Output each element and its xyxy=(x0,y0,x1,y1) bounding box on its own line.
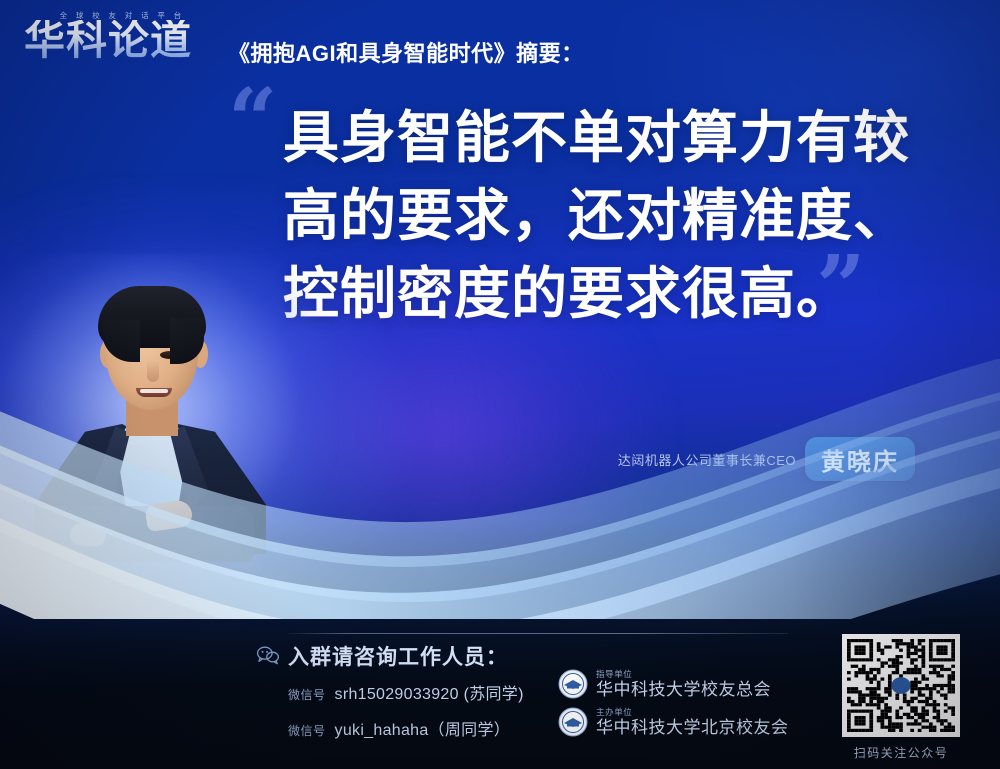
wechat-bubbles-icon xyxy=(256,645,280,665)
contact-label: 微信号 xyxy=(288,722,326,739)
qr-code[interactable] xyxy=(842,634,960,737)
organization-text: 主办单位 华中科技大学北京校友会 xyxy=(596,708,789,737)
speaker-portrait xyxy=(18,288,280,553)
organization-kind: 指导单位 xyxy=(596,670,771,679)
quote-line: 高的要求，还对精准度、 xyxy=(283,178,973,256)
footer-divider xyxy=(288,633,788,634)
qr-code-pattern xyxy=(847,639,955,732)
organization-name: 华中科技大学北京校友会 xyxy=(596,719,789,736)
organization-row: 主办单位 华中科技大学北京校友会 xyxy=(558,707,789,737)
speaker-name-badge: 黄晓庆 xyxy=(805,437,915,481)
organization-row: 指导单位 华中科技大学校友总会 xyxy=(558,669,771,699)
contact-id[interactable]: yuki_hahaha（周同学） xyxy=(335,716,511,740)
contact-row: 微信号 yuki_hahaha（周同学） xyxy=(288,716,510,740)
university-emblem-icon xyxy=(558,707,588,737)
organization-kind: 主办单位 xyxy=(596,708,789,717)
portrait-mouth xyxy=(136,388,172,397)
quote-text-block: 具身智能不单对算力有较 高的要求，还对精准度、 控制密度的要求很高。 xyxy=(283,100,973,334)
contact-label: 微信号 xyxy=(288,686,326,703)
poster-canvas: 全 球 校 友 对 话 平 台 华科论道 《拥抱AGI和具身智能时代》摘要： “… xyxy=(0,0,1000,769)
quote-line: 控制密度的要求很高。 xyxy=(283,256,973,334)
qr-caption: 扫码关注公众号 xyxy=(842,744,960,761)
portrait-hair xyxy=(98,286,206,348)
portrait-nose xyxy=(147,360,159,382)
logo-wordmark: 华科论道 xyxy=(24,20,220,61)
speaker-name: 黄晓庆 xyxy=(821,442,899,477)
contact-id[interactable]: srh15029033920 (苏同学) xyxy=(335,680,524,704)
quote-line: 具身智能不单对算力有较 xyxy=(283,100,973,178)
organization-name: 华中科技大学校友总会 xyxy=(596,681,771,698)
speaker-role: 达闼机器人公司董事长兼CEO xyxy=(618,450,796,469)
brand-logo: 全 球 校 友 对 话 平 台 华科论道 xyxy=(24,8,220,70)
organization-text: 指导单位 华中科技大学校友总会 xyxy=(596,670,771,699)
quote-open-mark: “ xyxy=(228,78,277,164)
university-emblem-icon xyxy=(558,669,588,699)
footer-heading: 入群请咨询工作人员： xyxy=(288,641,508,671)
page-title: 《拥抱AGI和具身智能时代》摘要： xyxy=(228,36,584,68)
header-bar: 全 球 校 友 对 话 平 台 华科论道 《拥抱AGI和具身智能时代》摘要： xyxy=(0,0,1000,92)
contact-row: 微信号 srh15029033920 (苏同学) xyxy=(288,680,524,704)
